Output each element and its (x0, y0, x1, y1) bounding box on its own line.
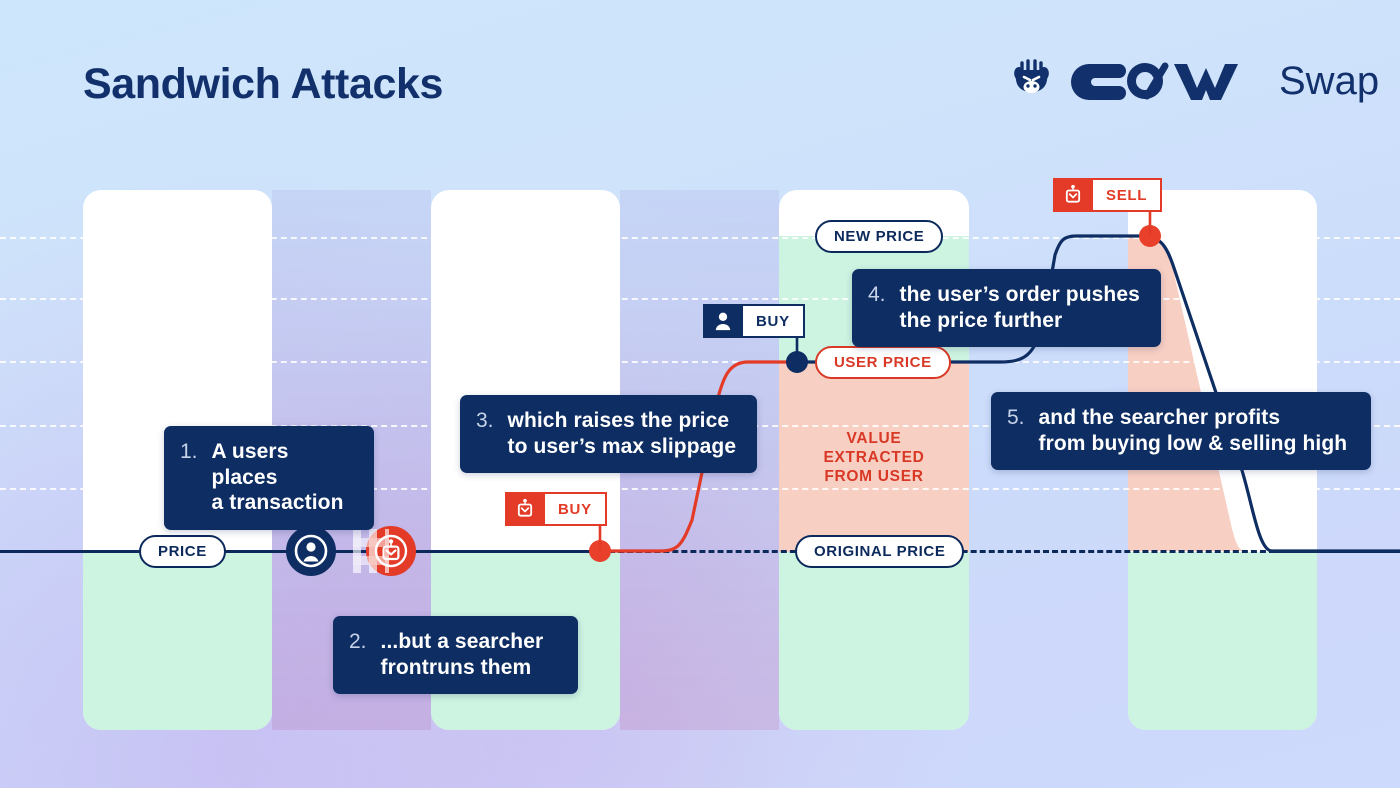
step-1-line-2: a transaction (212, 490, 356, 516)
step-4-callout: 4. the user’s order pushes the price fur… (852, 269, 1161, 347)
new-price-pill-label: NEW PRICE (834, 228, 924, 245)
gridline-1 (0, 237, 1400, 239)
user-buy-tag-label: BUY (741, 306, 803, 336)
gridline-3 (0, 361, 1400, 363)
step-3-number: 3. (476, 408, 494, 434)
price-pill-label: PRICE (158, 543, 207, 560)
gridline-2 (0, 298, 1400, 300)
step-3-line-1: which raises the price (508, 408, 737, 434)
new-price-pill: NEW PRICE (815, 220, 943, 253)
robot-icon (507, 494, 543, 524)
pixel-dust-decoration (353, 529, 389, 573)
step-5-callout: 5. and the searcher profits from buying … (991, 392, 1371, 470)
infographic-canvas: PRICE ORIGINAL PRICE USER PRICE NEW PRIC… (0, 0, 1400, 788)
value-extracted-line-1: VALUE (799, 430, 949, 449)
step-3-line-2: to user’s max slippage (508, 434, 737, 460)
page-title: Sandwich Attacks (83, 60, 443, 109)
searcher-buy-tag-label: BUY (543, 494, 605, 524)
cow-wordmark-icon (1077, 56, 1269, 106)
robot-icon-sell (1055, 180, 1091, 210)
step-4-number: 4. (868, 282, 886, 308)
price-pill: PRICE (139, 535, 226, 568)
cow-head-icon (1015, 55, 1067, 107)
step-3-callout: 3. which raises the price to user’s max … (460, 395, 757, 473)
user-avatar (286, 526, 336, 576)
value-extracted-label: VALUE EXTRACTED FROM USER (799, 430, 949, 487)
step-5-line-1: and the searcher profits (1039, 405, 1348, 431)
column-3-mint-bottom (779, 552, 969, 730)
column-1-mint-band (83, 552, 272, 730)
price-axis-line-right (1275, 550, 1400, 553)
step-5-line-2: from buying low & selling high (1039, 431, 1348, 457)
step-1-line-1: A users places (212, 439, 356, 490)
searcher-sell-tag-label: SELL (1091, 180, 1160, 210)
value-extracted-line-3: FROM USER (799, 468, 949, 487)
searcher-buy-dot (589, 540, 611, 562)
user-avatar-icon (294, 534, 328, 568)
step-4-line-1: the user’s order pushes (900, 282, 1140, 308)
step-2-line-1: ...but a searcher (381, 629, 544, 655)
user-price-pill-label: USER PRICE (834, 354, 932, 371)
brand-swap-text: Swap (1279, 59, 1379, 104)
original-price-pill: ORIGINAL PRICE (795, 535, 964, 568)
searcher-sell-tag[interactable]: SELL (1053, 178, 1162, 212)
step-2-number: 2. (349, 629, 367, 655)
user-buy-dot (786, 351, 808, 373)
user-price-pill: USER PRICE (815, 346, 951, 379)
step-2-callout: 2. ...but a searcher frontruns them (333, 616, 578, 694)
original-price-pill-label: ORIGINAL PRICE (814, 543, 945, 560)
person-icon (705, 306, 741, 336)
step-1-callout: 1. A users places a transaction (164, 426, 374, 530)
column-4-mint-band (1128, 552, 1317, 730)
value-extracted-line-2: EXTRACTED (799, 449, 949, 468)
searcher-buy-tag[interactable]: BUY (505, 492, 607, 526)
step-4-line-2: the price further (900, 308, 1140, 334)
step-1-number: 1. (180, 439, 198, 465)
step-2-line-2: frontruns them (381, 655, 544, 681)
cowswap-logo: Swap (1015, 55, 1379, 107)
searcher-sell-dot (1139, 225, 1161, 247)
user-buy-tag[interactable]: BUY (703, 304, 805, 338)
step-5-number: 5. (1007, 405, 1025, 431)
